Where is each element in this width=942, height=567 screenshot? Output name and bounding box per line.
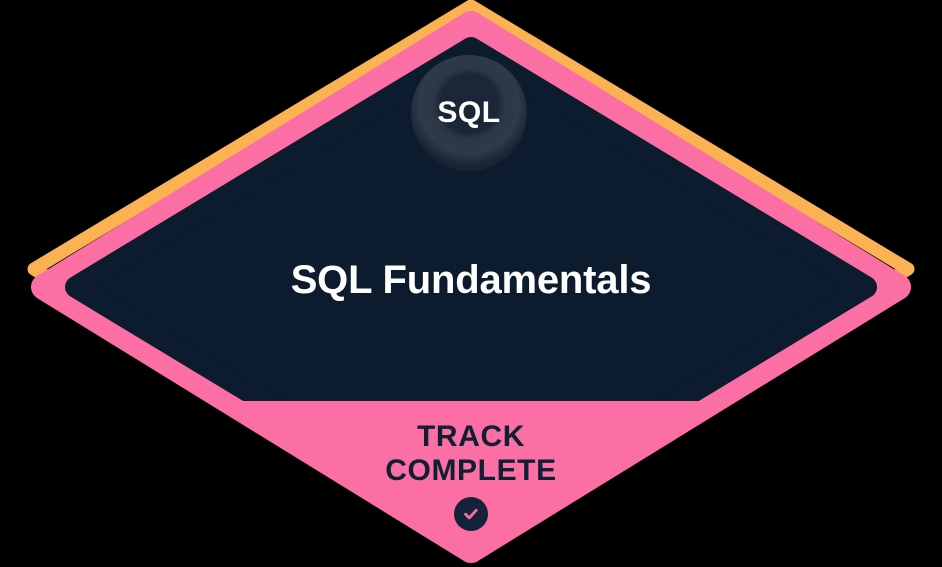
sql-emblem-icon: SQL [411,55,527,171]
track-status-block: TRACK COMPLETE [0,420,942,531]
check-icon [454,497,488,531]
status-check-wrap [0,497,942,531]
track-completion-badge: SQL SQL Fundamentals TRACK COMPLETE [0,0,942,567]
status-line-track: TRACK [0,420,942,454]
track-title: SQL Fundamentals [0,258,942,302]
sql-emblem-label: SQL [437,98,500,128]
status-line-complete: COMPLETE [0,454,942,488]
